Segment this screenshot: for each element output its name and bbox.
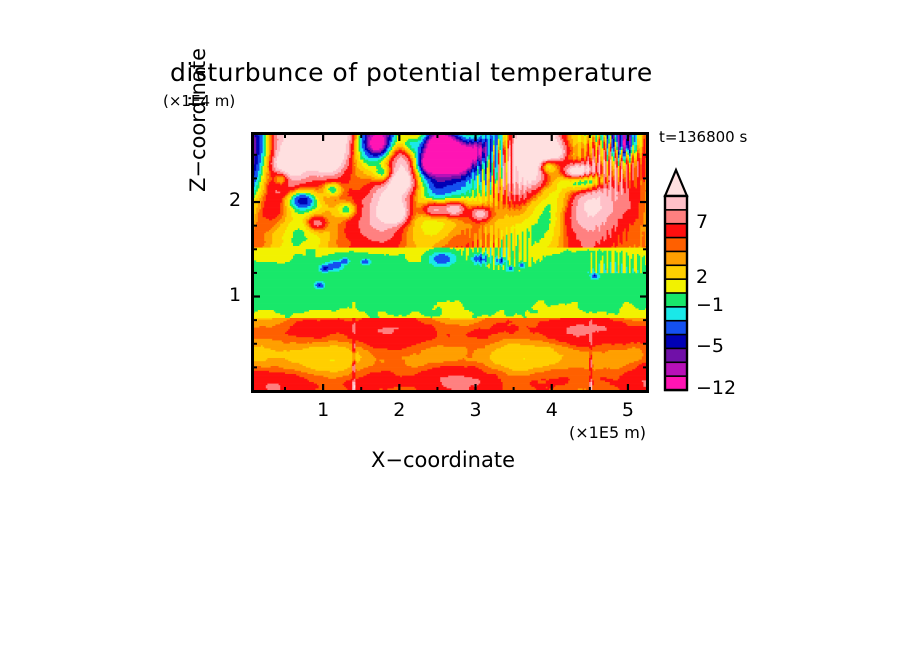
- contour-plot-canvas: [0, 0, 904, 654]
- x-tick-label: 5: [616, 399, 640, 421]
- x-tick-label: 1: [311, 399, 335, 421]
- x-tick-label: 2: [387, 399, 411, 421]
- y-tick-label: 1: [225, 284, 245, 306]
- colorbar-tick-label: 2: [696, 266, 708, 288]
- colorbar-tick-label: −5: [696, 335, 724, 357]
- colorbar: [665, 170, 687, 390]
- contour-field: [253, 134, 649, 392]
- colorbar-tick-label: 7: [696, 211, 708, 233]
- x-tick-label: 3: [464, 399, 488, 421]
- colorbar-tick-label: −1: [696, 294, 724, 316]
- contour-figure: disturbunce of potential temperature (×1…: [0, 0, 904, 654]
- y-tick-label: 2: [225, 189, 245, 211]
- colorbar-tick-label: −12: [696, 377, 736, 399]
- x-tick-label: 4: [540, 399, 564, 421]
